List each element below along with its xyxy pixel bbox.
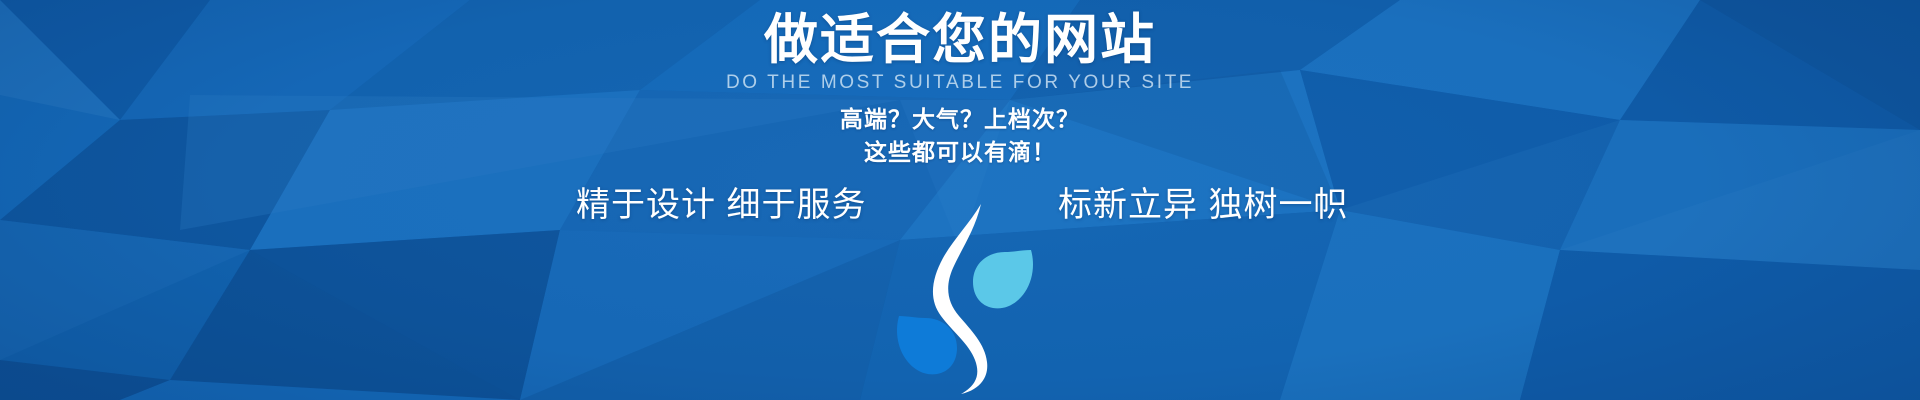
- leaf-sprout-logo-icon: [895, 196, 1035, 400]
- logo-leaf-bottom: [897, 316, 957, 374]
- slogan-line-1: 高端？大气？上档次？: [0, 103, 1920, 136]
- tagline-right: 标新立异 独树一帜: [1058, 182, 1348, 228]
- title-block: 做适合您的网站 DO THE MOST SUITABLE FOR YOUR SI…: [0, 10, 1920, 94]
- slogan-block: 高端？大气？上档次？ 这些都可以有滴！: [0, 103, 1920, 169]
- hero-banner: 做适合您的网站 DO THE MOST SUITABLE FOR YOUR SI…: [0, 0, 1920, 400]
- slogan-line-2: 这些都可以有滴！: [0, 136, 1920, 169]
- page-title: 做适合您的网站: [0, 10, 1920, 70]
- tagline-left: 精于设计 细于服务: [576, 182, 866, 228]
- page-subtitle-english: DO THE MOST SUITABLE FOR YOUR SITE: [0, 72, 1920, 94]
- logo-leaf-top: [973, 250, 1033, 308]
